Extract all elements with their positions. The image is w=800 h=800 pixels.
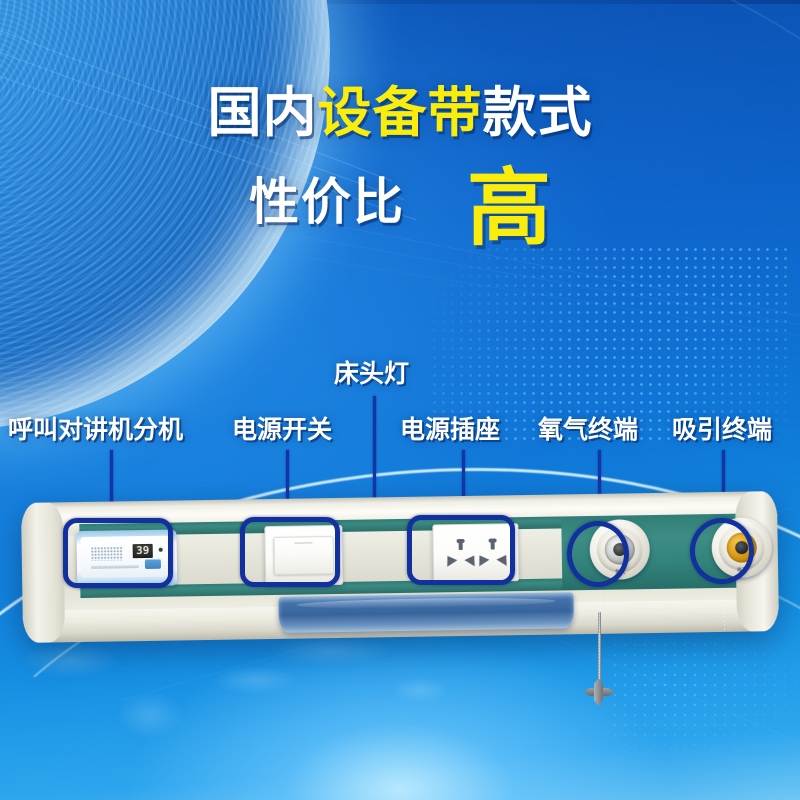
callout-label-intercom: 呼叫对讲机分机: [8, 418, 183, 443]
headline-seg-kuanshi: 款式: [483, 83, 593, 143]
dot-matrix-pattern-secondary: [610, 640, 800, 760]
callout-label-power-socket: 电源插座: [400, 418, 500, 443]
highlight-box-power-switch: [240, 517, 340, 587]
promo-banner-stage: 国内设备带款式 性价比高 呼叫对讲机分机 电源开关 床头灯 电源插座 氧气终端 …: [0, 0, 800, 800]
cross-finial-icon: [583, 678, 615, 706]
callout-label-oxygen-terminal: 氧气终端: [538, 418, 638, 443]
world-map-silhouette: [0, 620, 620, 790]
suction-hanging-thread: [724, 596, 725, 630]
headline-line-2: 性价比高: [0, 160, 800, 244]
highlight-circle-suction: [690, 518, 754, 584]
headline-seg-xingjiabi: 性价比: [249, 174, 405, 230]
highlight-box-intercom: [63, 518, 173, 588]
unit-end-cap-left: [21, 502, 65, 643]
finial-vertical-bar: [594, 678, 603, 706]
headline-seg-gao: 高: [467, 161, 551, 255]
lamp-gloss-highlight: [296, 596, 556, 609]
bed-reading-lamp-strip[interactable]: [278, 592, 574, 633]
suspension-rod-threading: [599, 612, 600, 680]
headline-line-1: 国内设备带款式: [0, 86, 800, 140]
headline-seg-guonei: 国内: [208, 83, 318, 143]
callout-label-suction-terminal: 吸引终端: [672, 418, 772, 443]
callout-label-power-switch: 电源开关: [232, 418, 332, 443]
headline-seg-shebeidai: 设备带: [318, 83, 483, 143]
dot-matrix-pattern: [430, 245, 790, 445]
highlight-box-power-socket: [407, 515, 515, 585]
highlight-circle-oxygen: [567, 521, 629, 587]
callout-label-bed-lamp: 床头灯: [334, 362, 409, 387]
